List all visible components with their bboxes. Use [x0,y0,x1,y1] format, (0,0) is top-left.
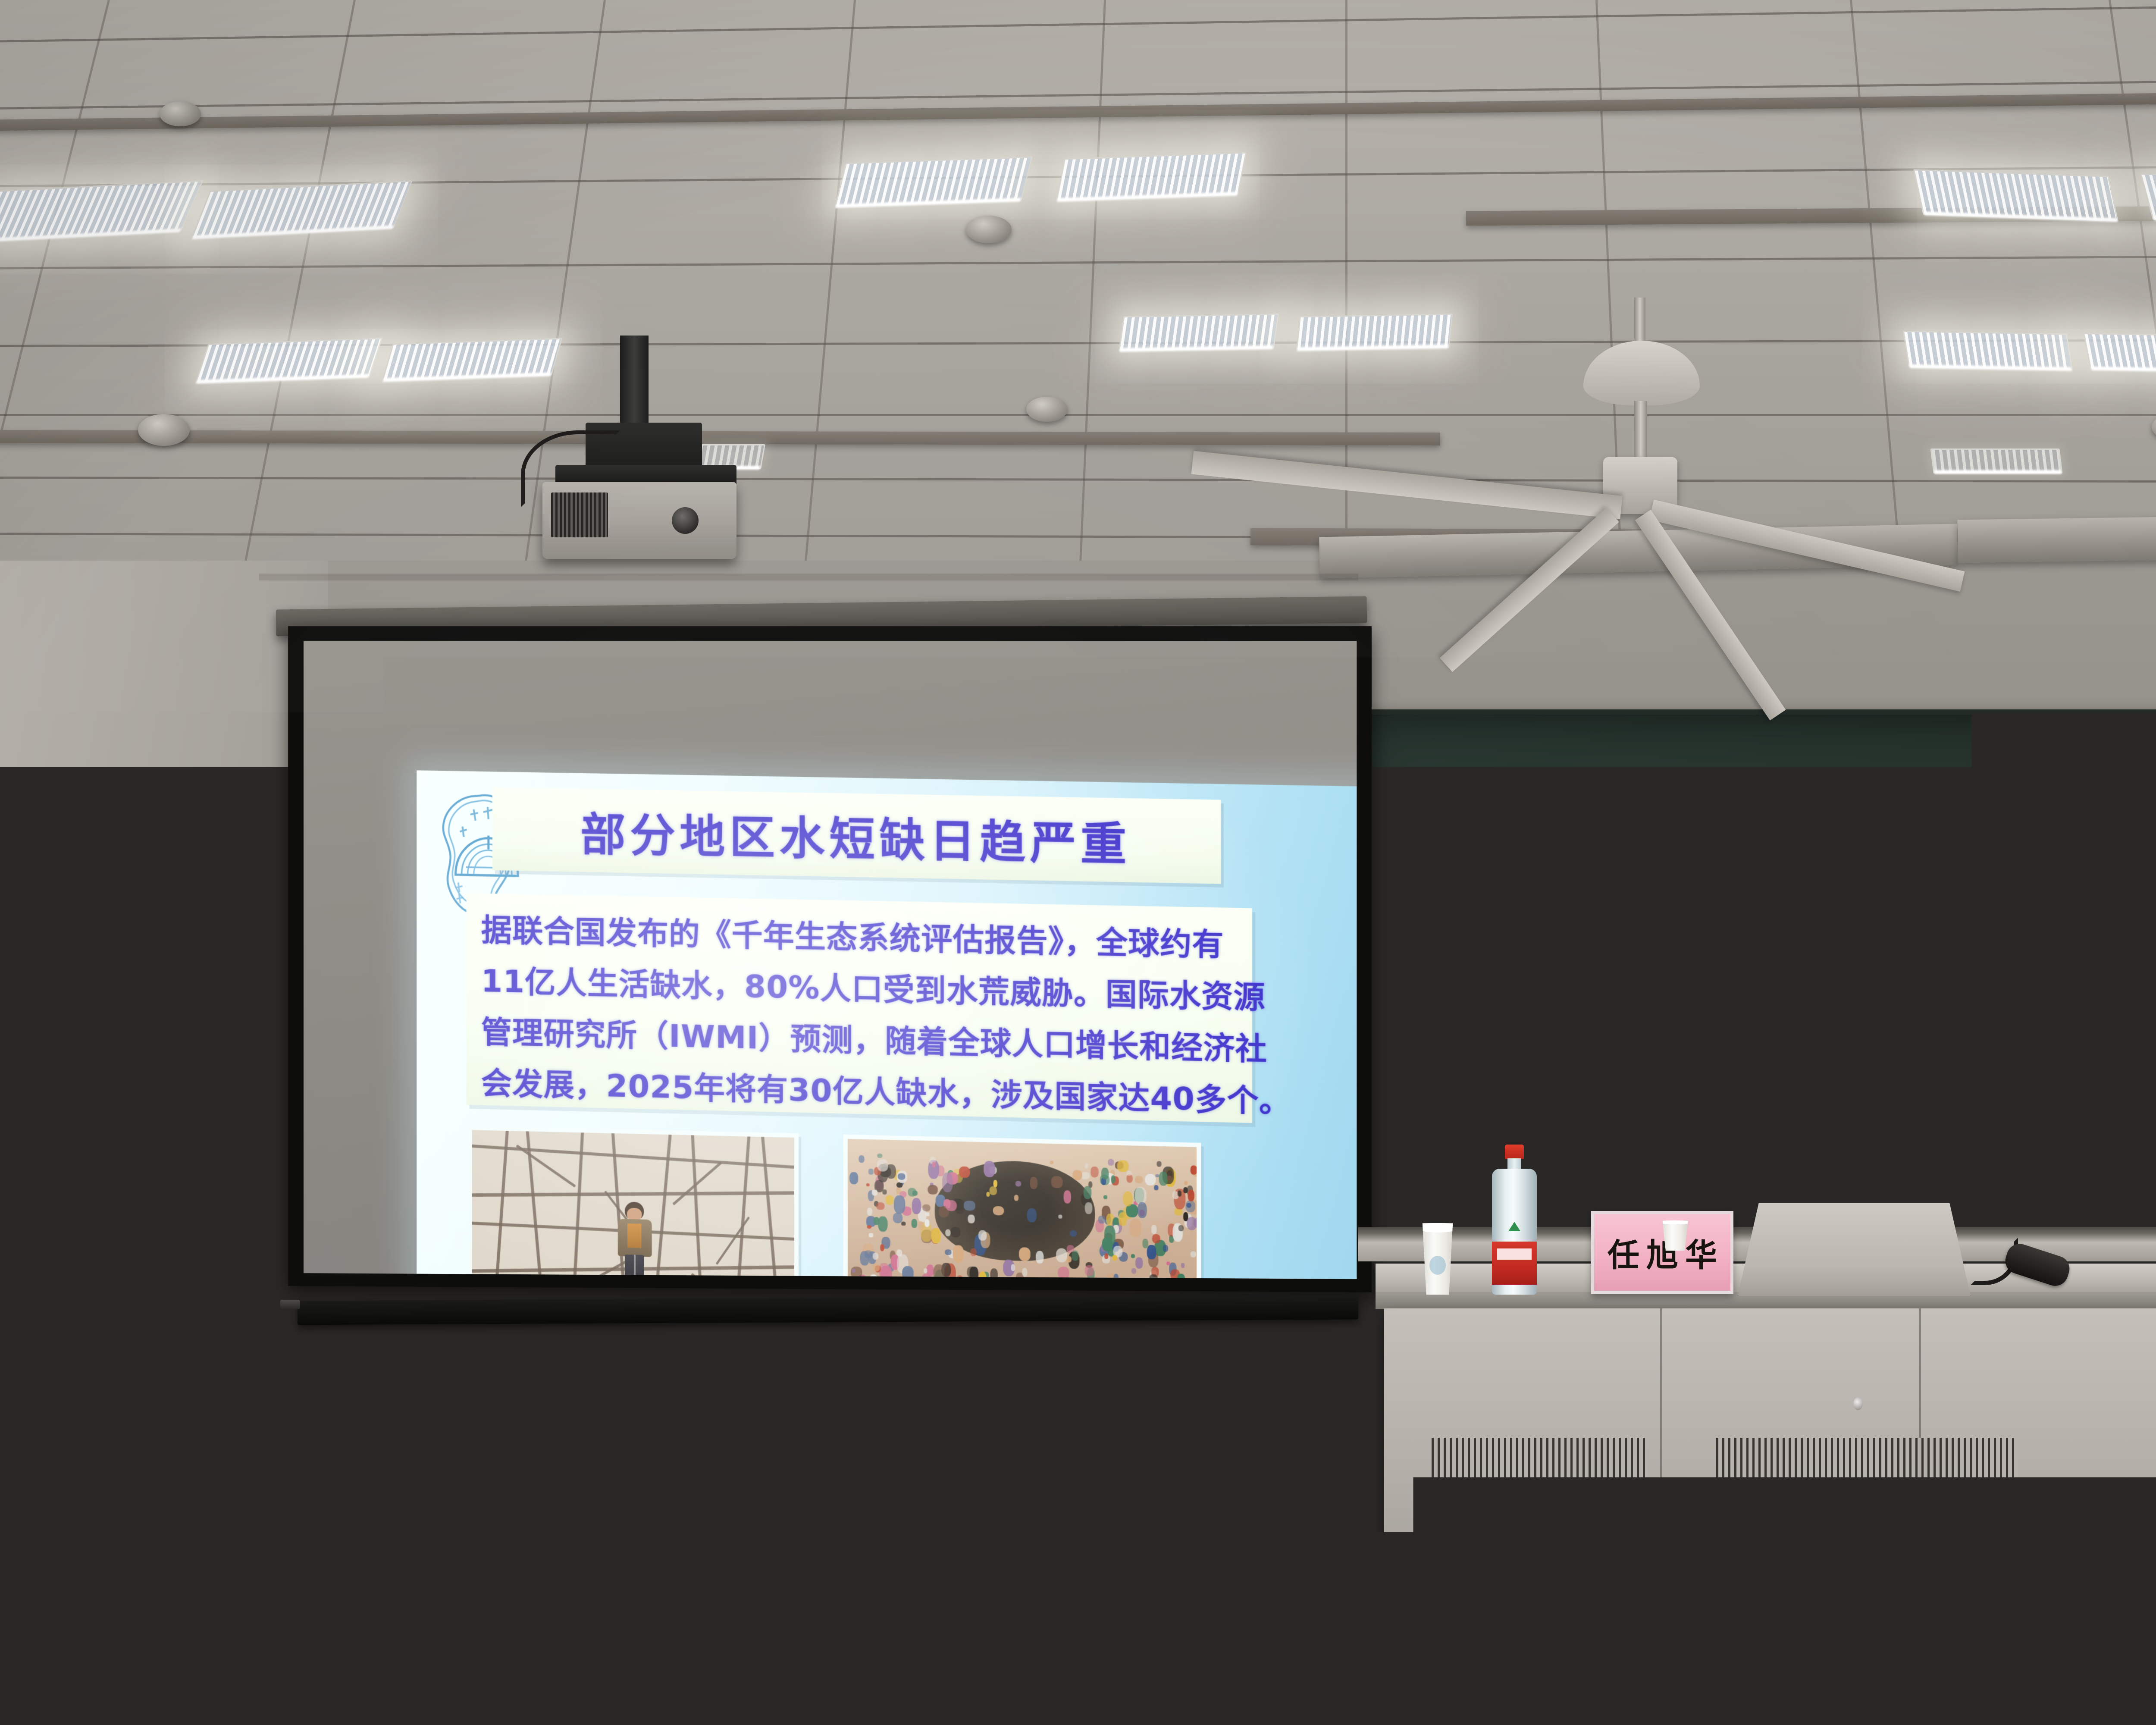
circuit-breakers[interactable] [197,1010,285,1036]
fluorescent-troffer-light [2083,333,2156,373]
wall-trim [259,574,1358,580]
fluorescent-troffer-light [195,338,382,383]
wall-notice-board [65,979,164,1095]
ceiling-speaker-icon [2152,414,2156,440]
slide-title: 部分地区水短缺日趋严重 [580,798,1131,873]
fluorescent-troffer-light [382,338,563,382]
electrical-panel [172,977,203,997]
ceiling-projector [542,482,736,559]
notice-text-lines [78,993,150,1081]
audience [0,1087,2156,1725]
slide-title-box: 部分地区水短缺日趋严重 [492,787,1221,884]
panel-warning-label [197,1039,285,1052]
ceiling-speaker-icon [160,101,201,126]
fluorescent-troffer-light [191,180,413,239]
fluorescent-troffer-light [1119,314,1279,351]
projector-vent [551,492,608,537]
wall-inspection-hatch [0,992,43,1091]
fluorescent-troffer-light [0,180,204,243]
fluorescent-troffer-light [1930,448,2062,474]
projector-lens-icon [672,507,699,534]
fluorescent-troffer-light [1913,169,2118,222]
fluorescent-troffer-light [1056,152,1247,202]
panel-face [188,1000,295,1062]
fluorescent-troffer-light [834,157,1033,208]
fluorescent-troffer-light [1903,331,2073,371]
ceiling-speaker-icon [138,414,190,446]
lecture-hall-scene: 部分地区水短缺日趋严重 据联合国发布的《千年生态系统评估报告》，全球约有 11亿… [0,0,2156,1725]
ceiling-speaker-icon [1026,397,1068,422]
ceiling-speaker-icon [966,216,1012,243]
ceiling-fan-downrod [1634,401,1647,464]
fluorescent-troffer-light [1296,314,1453,351]
